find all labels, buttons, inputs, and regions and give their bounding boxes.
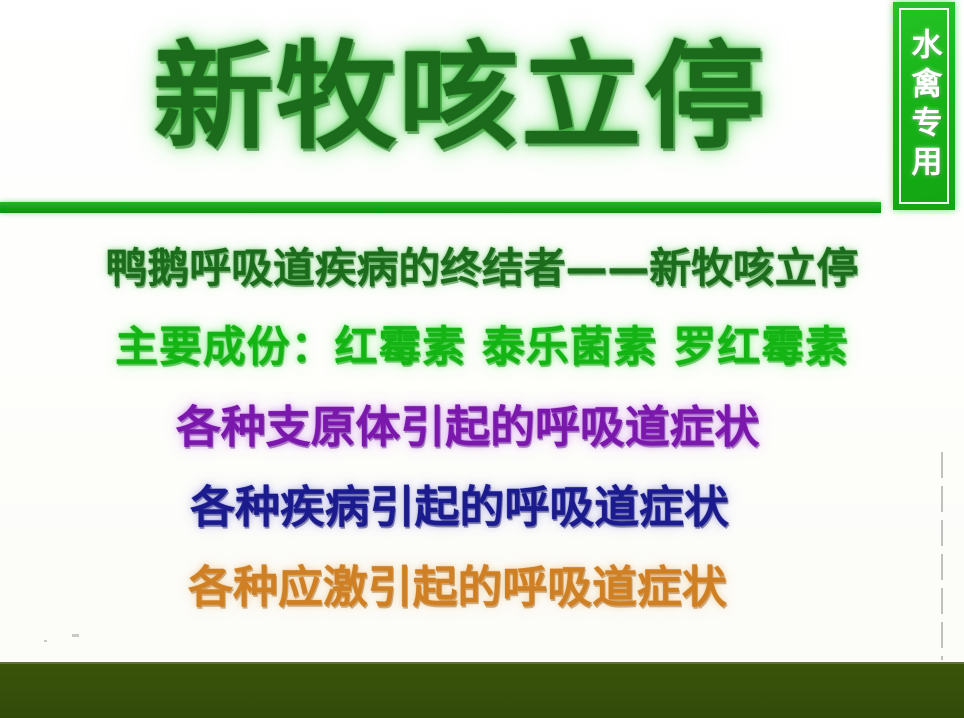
waterfowl-use-badge: 水禽专用	[893, 2, 955, 210]
title-zone: 新牧咳立停	[0, 0, 884, 196]
badge-label: 水禽专用	[893, 2, 955, 210]
scan-fold-artifact	[941, 452, 943, 660]
scan-speck	[72, 634, 79, 637]
symptom-line-mycoplasma: 各种支原体引起的呼吸道症状	[0, 406, 959, 450]
scan-speck	[44, 640, 47, 642]
page-title: 新牧咳立停	[118, 40, 767, 156]
subtitle-text: 鸭鹅呼吸道疾病的终结者——新牧咳立停	[0, 248, 964, 289]
green-divider-rule	[0, 202, 881, 213]
bottom-color-band	[0, 662, 964, 718]
product-poster: 新牧咳立停 水禽专用 鸭鹅呼吸道疾病的终结者——新牧咳立停 主要成份：红霉素 泰…	[0, 0, 964, 718]
symptom-line-stress: 各种应激引起的呼吸道症状	[0, 566, 949, 610]
symptom-line-disease: 各种疾病引起的呼吸道症状	[0, 486, 951, 530]
ingredients-text: 主要成份：红霉素 泰乐菌素 罗红霉素	[0, 326, 964, 368]
bottom-band-top-edge	[0, 662, 964, 664]
